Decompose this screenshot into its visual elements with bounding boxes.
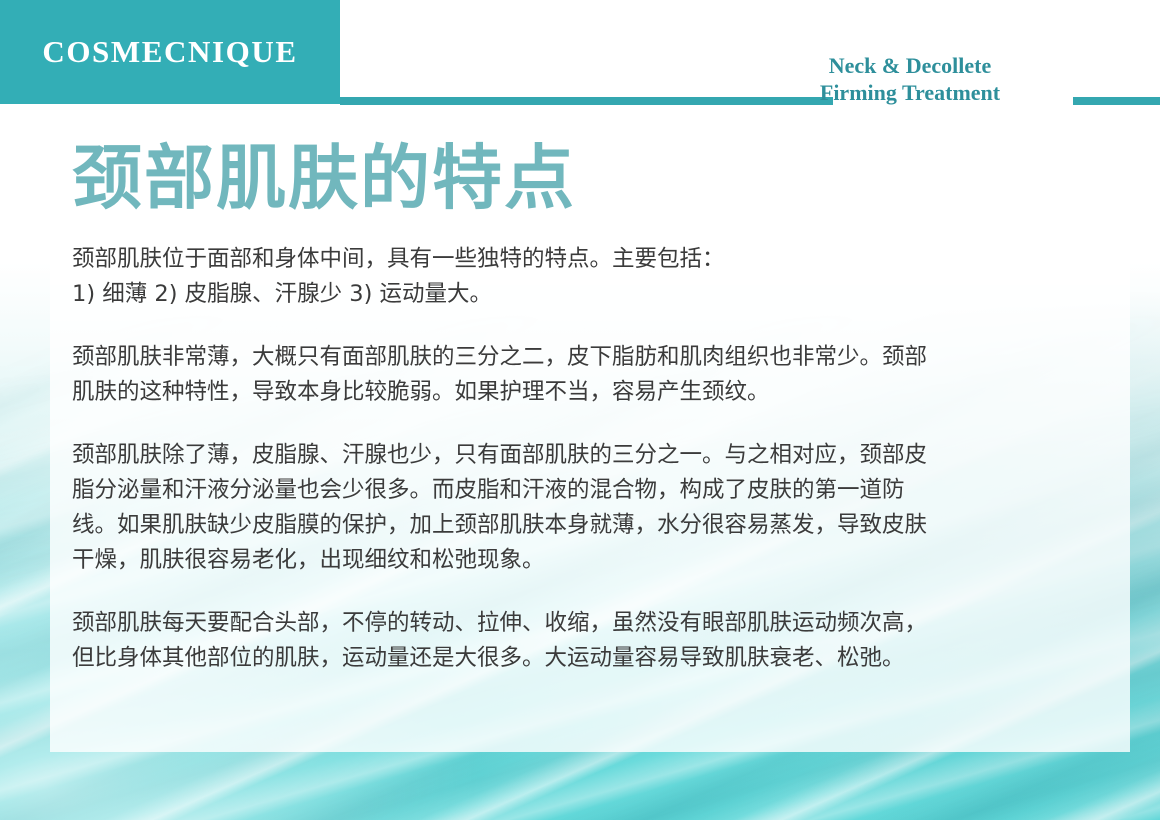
page-title: 颈部肌肤的特点 — [64, 136, 1116, 220]
content-panel: 颈部肌肤的特点 颈部肌肤位于面部和身体中间，具有一些独特的特点。主要包括： 1)… — [50, 118, 1130, 752]
paragraph-3-line-4: 干燥，肌肤很容易老化，出现细纹和松弛现象。 — [72, 543, 1110, 578]
treatment-title: Neck & Decollete Firming Treatment — [760, 52, 1060, 106]
paragraph-2: 颈部肌肤非常薄，大概只有面部肌肤的三分之二，皮下脂肪和肌肉组织也非常少。颈部 肌… — [72, 340, 1110, 410]
treatment-title-line-1: Neck & Decollete — [760, 52, 1060, 79]
slide-canvas: COSMECNIQUE Neck & Decollete Firming Tre… — [0, 0, 1160, 820]
paragraph-1: 颈部肌肤位于面部和身体中间，具有一些独特的特点。主要包括： 1) 细薄 2) 皮… — [72, 242, 1110, 312]
paragraph-3-line-1: 颈部肌肤除了薄，皮脂腺、汗腺也少，只有面部肌肤的三分之一。与之相对应，颈部皮 — [72, 438, 1110, 473]
brand-wordmark: COSMECNIQUE — [42, 34, 297, 70]
paragraph-4: 颈部肌肤每天要配合头部，不停的转动、拉伸、收缩，虽然没有眼部肌肤运动频次高， 但… — [72, 606, 1110, 676]
paragraph-1-line-2: 1) 细薄 2) 皮脂腺、汗腺少 3) 运动量大。 — [72, 277, 1110, 312]
paragraph-4-line-2: 但比身体其他部位的肌肤，运动量还是大很多。大运动量容易导致肌肤衰老、松弛。 — [72, 641, 1110, 676]
paragraph-1-line-1: 颈部肌肤位于面部和身体中间，具有一些独特的特点。主要包括： — [72, 242, 1110, 277]
paragraph-4-line-1: 颈部肌肤每天要配合头部，不停的转动、拉伸、收缩，虽然没有眼部肌肤运动频次高， — [72, 606, 1110, 641]
paragraph-3: 颈部肌肤除了薄，皮脂腺、汗腺也少，只有面部肌肤的三分之一。与之相对应，颈部皮 脂… — [72, 438, 1110, 578]
treatment-title-line-2: Firming Treatment — [760, 79, 1060, 106]
paragraph-2-line-2: 肌肤的这种特性，导致本身比较脆弱。如果护理不当，容易产生颈纹。 — [72, 375, 1110, 410]
header-rule-right — [1073, 97, 1160, 105]
brand-logo-block: COSMECNIQUE — [0, 0, 340, 104]
paragraph-3-line-2: 脂分泌量和汗液分泌量也会少很多。而皮脂和汗液的混合物，构成了皮肤的第一道防 — [72, 473, 1110, 508]
paragraph-2-line-1: 颈部肌肤非常薄，大概只有面部肌肤的三分之二，皮下脂肪和肌肉组织也非常少。颈部 — [72, 340, 1110, 375]
paragraph-3-line-3: 线。如果肌肤缺少皮脂膜的保护，加上颈部肌肤本身就薄，水分很容易蒸发，导致皮肤 — [72, 508, 1110, 543]
body-copy: 颈部肌肤位于面部和身体中间，具有一些独特的特点。主要包括： 1) 细薄 2) 皮… — [64, 220, 1116, 676]
